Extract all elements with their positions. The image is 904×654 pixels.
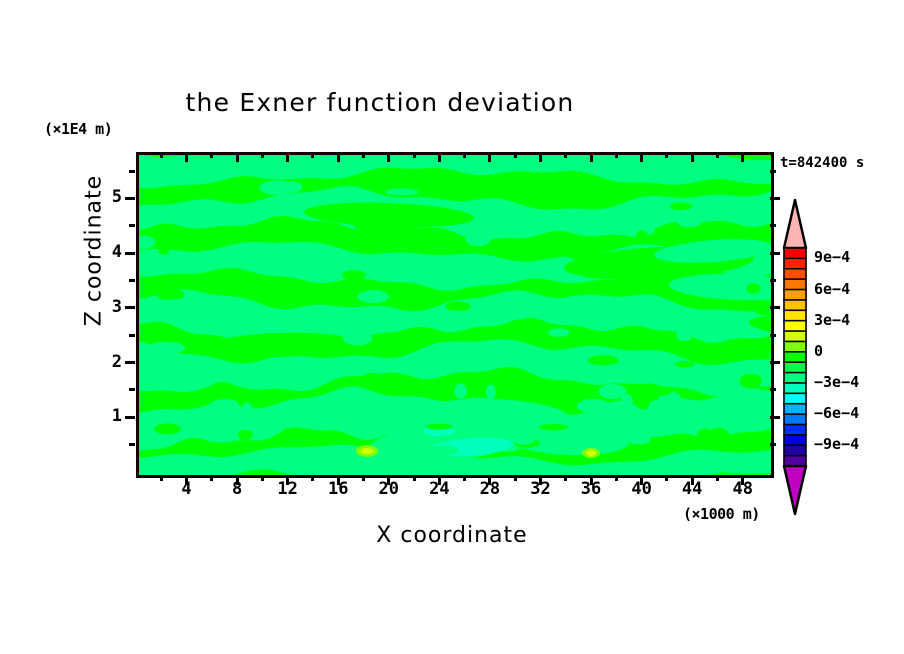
contour-field [139,155,771,475]
x-axis-tick-label: 48 [723,479,763,499]
x-axis-minor-tick [261,475,264,481]
x-axis-tick-label: 36 [571,479,611,499]
contour-speckle [258,205,293,216]
colorbar-band [784,445,806,456]
colorbar-band [784,393,806,404]
contour-speckle [567,250,601,258]
contour-speckle [588,355,619,365]
contour-speckle [670,203,692,211]
x-axis-top-tick [665,152,668,158]
contour-speckle [154,423,181,434]
y-axis-unit-label: (×1E4 m) [44,120,112,138]
contour-speckle [177,364,211,378]
contour-blob-positive [361,448,373,454]
contour-speckle [577,399,611,413]
x-axis-top-tick [463,152,466,158]
contour-speckle [211,399,239,409]
x-axis-tick-label: 8 [217,479,257,499]
contour-speckle [626,434,651,445]
y-axis-right-tick [770,334,776,337]
x-axis-tick-label: 12 [268,479,308,499]
colorbar-band [784,290,806,301]
contour-speckle [238,429,253,440]
colorbar-tick-label: 9e−4 [814,248,850,266]
colorbar-low-arrow-cap [784,466,806,514]
colorbar-band [784,258,806,269]
y-axis-right-tick [770,170,776,173]
x-axis-tick-label: 32 [520,479,560,499]
contour-speckle [677,218,701,228]
chart-title: the Exner function deviation [0,88,760,117]
y-axis-minor-tick [129,224,135,227]
y-axis-major-tick [125,197,135,200]
y-axis-tick-label: 5 [96,187,122,207]
contour-speckle [427,445,459,455]
x-axis-top-tick [413,152,416,158]
contour-speckle [208,251,232,266]
colorbar-band [784,341,806,352]
x-axis-top-tick [564,152,567,158]
x-axis-top-tick [311,152,314,158]
x-axis-minor-tick [665,475,668,481]
contour-speckle [212,382,232,390]
colorbar-high-arrow-cap [784,200,806,248]
contour-speckle [158,244,170,255]
contour-speckle [486,384,496,399]
x-axis-minor-tick [716,475,719,481]
colorbar-tick-label: 0 [814,342,823,360]
contour-speckle [157,290,178,299]
contour-speckle [660,436,676,452]
x-axis-top-tick [185,152,188,162]
contour-speckle [746,283,760,293]
contour-speckle [592,426,628,437]
contour-speckle [638,387,672,396]
x-axis-top-tick [716,152,719,158]
x-axis-title: X coordinate [236,523,668,548]
x-axis-top-tick [691,152,694,162]
y-axis-tick-label: 1 [96,406,122,426]
colorbar-band [784,279,806,290]
x-axis-minor-tick [615,475,618,481]
contour-speckle [512,432,535,445]
y-axis-major-tick [125,252,135,255]
contour-speckle [353,221,391,231]
contour-speckle [232,248,258,255]
x-axis-top-tick [488,152,491,162]
contour-speckle [260,180,294,195]
colorbar-band [784,331,806,342]
colorbar-band [784,310,806,321]
contour-speckle [636,230,648,241]
colorbar-band [784,435,806,446]
y-axis-right-tick [770,443,776,446]
contour-speckle [568,275,586,282]
x-axis-top-tick [337,152,340,162]
contour-speckle [490,266,508,280]
contour-speckle [676,329,692,341]
contour-speckle [361,373,382,386]
contour-speckle [466,232,491,246]
contour-speckle [235,416,269,430]
colorbar-band [784,352,806,363]
colorbar-tick-label: −6e−4 [814,404,859,422]
colorbar-band [784,362,806,373]
contour-speckle [358,290,389,303]
x-axis-minor-tick [160,475,163,481]
x-axis-top-tick [438,152,441,162]
contour-speckle [548,328,570,337]
x-axis-top-tick [514,152,517,158]
x-axis-top-tick [261,152,264,158]
contour-speckle [675,361,695,367]
colorbar-band [784,404,806,415]
x-axis-tick-label: 20 [369,479,409,499]
contour-speckle [740,374,762,389]
colorbar-band [784,248,806,259]
time-annotation: t=842400 s [780,155,864,171]
contour-speckle [530,304,558,319]
x-axis-top-tick [640,152,643,162]
contour-speckle [599,384,627,399]
contour-speckle [282,428,304,436]
colorbar-tick-label: −9e−4 [814,435,859,453]
x-axis-top-tick [539,152,542,162]
contour-speckle [154,357,192,363]
y-axis-right-tick [770,388,776,391]
y-axis-major-tick [125,306,135,309]
x-axis-top-tick [590,152,593,162]
contour-plot-area [136,152,774,478]
x-axis-top-tick [741,152,744,162]
y-axis-right-tick [770,224,776,227]
x-axis-top-tick [236,152,239,162]
x-axis-tick-label: 40 [622,479,662,499]
contour-speckle [462,403,494,417]
contour-speckle [385,189,418,196]
contour-speckle [209,183,230,197]
contour-speckle [636,396,650,409]
y-axis-minor-tick [129,388,135,391]
x-axis-unit-label: (×1000 m) [683,505,760,523]
x-axis-top-tick [286,152,289,162]
x-axis-top-tick [615,152,618,158]
contour-blob-positive [586,450,596,456]
contour-speckle [708,428,730,443]
y-axis-tick-label: 3 [96,297,122,317]
colorbar-tick-label: −3e−4 [814,373,859,391]
colorbar-tick-label: 3e−4 [814,311,850,329]
y-axis-major-tick [125,361,135,364]
colorbar-band [784,373,806,384]
contour-speckle [445,302,470,311]
contour-speckle [426,424,453,430]
contour-speckle [147,342,185,354]
x-axis-tick-label: 16 [318,479,358,499]
x-axis-minor-tick [564,475,567,481]
colorbar [779,198,811,516]
x-axis-minor-tick [413,475,416,481]
x-axis-top-tick [387,152,390,162]
y-axis-minor-tick [129,334,135,337]
y-axis-minor-tick [129,279,135,282]
contour-speckle [454,383,467,398]
contour-speckle [503,306,532,319]
contour-speckle [242,403,252,414]
colorbar-tick-label: 6e−4 [814,280,850,298]
x-axis-top-tick [362,152,365,158]
x-axis-minor-tick [311,475,314,481]
contour-speckle [539,424,569,430]
colorbar-band [784,300,806,311]
contour-speckle [342,270,366,280]
x-axis-minor-tick [210,475,213,481]
y-axis-tick-label: 4 [96,242,122,262]
colorbar-graphic [779,198,811,516]
x-axis-tick-label: 24 [419,479,459,499]
colorbar-band [784,424,806,435]
y-axis-minor-tick [129,443,135,446]
x-axis-tick-label: 44 [672,479,712,499]
y-axis-minor-tick [129,170,135,173]
contour-speckle [305,400,325,407]
x-axis-top-tick [160,152,163,158]
colorbar-band [784,269,806,280]
y-axis-tick-label: 2 [96,352,122,372]
colorbar-band [784,321,806,332]
x-axis-minor-tick [463,475,466,481]
x-axis-top-tick [210,152,213,158]
x-axis-tick-label: 4 [167,479,207,499]
x-axis-minor-tick [514,475,517,481]
colorbar-band [784,414,806,425]
x-axis-tick-label: 28 [470,479,510,499]
y-axis-major-tick [125,416,135,419]
colorbar-band [784,383,806,394]
y-axis-right-tick [770,279,776,282]
contour-speckle [343,331,373,345]
x-axis-minor-tick [362,475,365,481]
